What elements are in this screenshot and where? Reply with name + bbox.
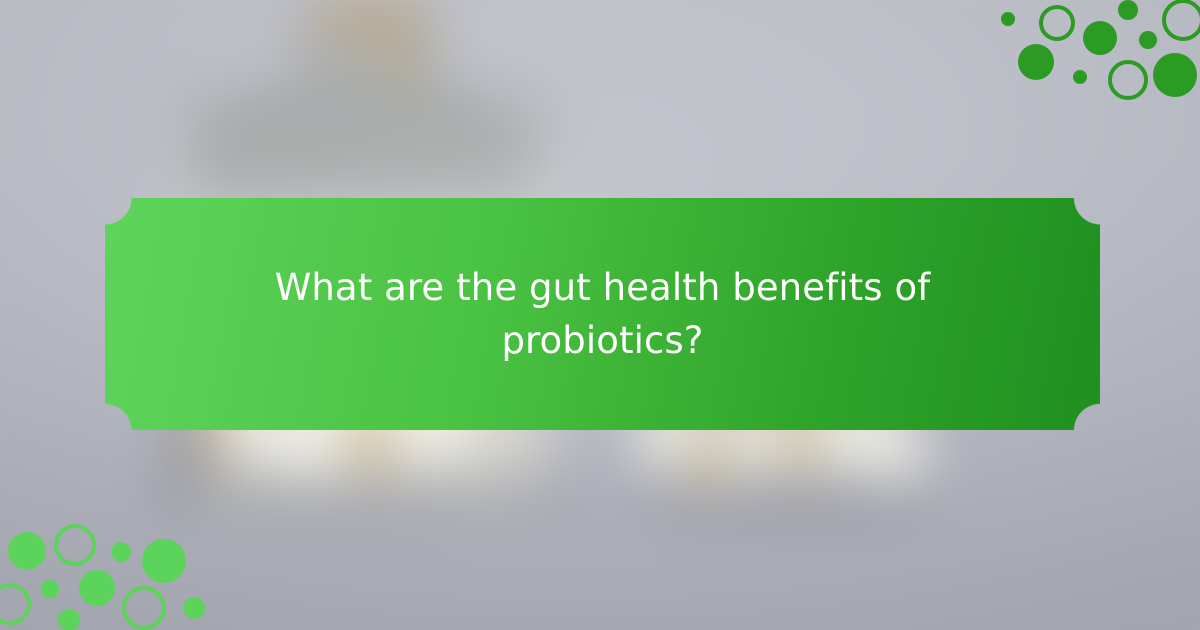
decor-circle-fill (41, 580, 59, 598)
decor-circle-ring (122, 586, 166, 630)
decor-circle-fill (1083, 21, 1117, 55)
decor-circle-fill (1153, 53, 1197, 97)
decor-circle-fill (1018, 44, 1054, 80)
decor-circle-ring (1108, 60, 1148, 100)
decor-circle-fill (183, 597, 205, 619)
decor-circle-ring (1039, 5, 1075, 41)
decor-circle-ring (54, 524, 96, 566)
question-title: What are the gut health benefits of prob… (105, 198, 1100, 430)
screenshot-stage: What are the gut health benefits of prob… (0, 0, 1200, 630)
decor-circle-fill (58, 609, 80, 630)
decor-circle-fill (1139, 31, 1157, 49)
decor-circle-fill (8, 532, 46, 570)
decor-circle-fill (142, 539, 186, 583)
decor-circle-ring (1162, 0, 1200, 41)
decor-circle-fill (1073, 70, 1087, 84)
decor-circle-fill (111, 542, 131, 562)
decor-circle-fill (1001, 12, 1015, 26)
decor-circle-fill (79, 570, 115, 606)
question-banner: What are the gut health benefits of prob… (105, 198, 1100, 430)
decor-circle-fill (1118, 0, 1138, 20)
